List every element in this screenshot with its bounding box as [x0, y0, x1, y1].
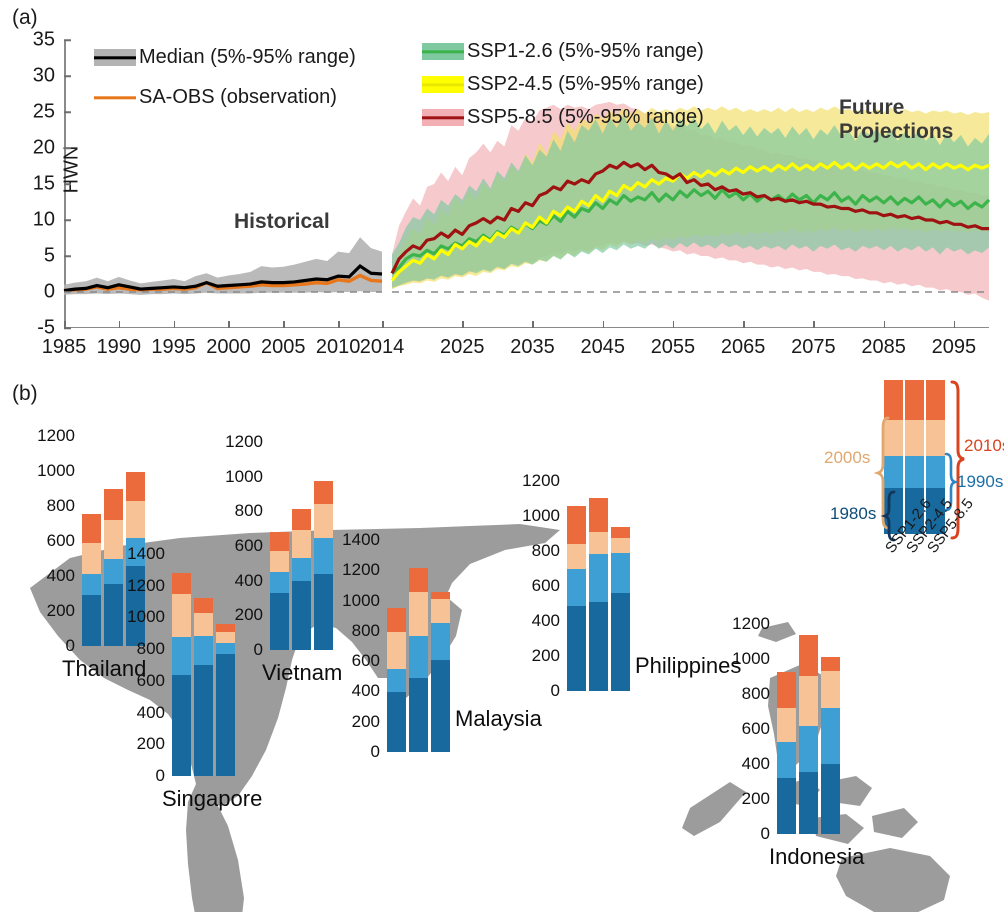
country-y-tick: 800 [47, 496, 75, 516]
bar-segment-1980s [194, 665, 213, 776]
bar-segment-1980s [799, 772, 818, 834]
bar-segment-2000s [777, 708, 796, 742]
country-y-tick: 1000 [522, 506, 560, 526]
inset-segment-1990s [884, 456, 903, 488]
bar-SSP1-2.6[interactable] [567, 506, 586, 691]
bar-segment-2000s [104, 520, 123, 559]
country-y-tick: 800 [352, 621, 380, 641]
stacked-bars [172, 573, 238, 776]
legend-line [422, 50, 464, 53]
bar-segment-2010s [314, 481, 333, 504]
bar-SSP2-4.5[interactable] [104, 489, 123, 646]
legend-line [94, 56, 136, 59]
x-tick-label: 2065 [721, 336, 766, 359]
bar-segment-1980s [777, 778, 796, 834]
country-chart-malaysia: 0200400600800100012001400Malaysia [383, 540, 473, 752]
bar-segment-1990s [589, 554, 608, 602]
bar-segment-2010s [589, 498, 608, 532]
x-tick-label: 2075 [791, 336, 836, 359]
country-y-tick: 0 [371, 742, 380, 762]
bar-SSP5-8.5[interactable] [611, 527, 630, 691]
bar-segment-1980s [611, 593, 630, 691]
bar-segment-2010s [387, 608, 406, 631]
inset-segment-2000s [926, 420, 945, 456]
bar-segment-2010s [292, 509, 311, 531]
country-y-tick: 600 [352, 651, 380, 671]
bar-segment-2010s [270, 532, 289, 551]
bar-segment-1990s [611, 553, 630, 593]
bar-segment-2000s [126, 501, 145, 539]
country-label: Philippines [635, 653, 741, 679]
bar-segment-1990s [216, 643, 235, 654]
bar-SSP2-4.5[interactable] [292, 509, 311, 650]
bar-segment-2000s [431, 599, 450, 623]
country-y-tick: 600 [532, 576, 560, 596]
y-tick-label: 25 [33, 101, 55, 124]
inset-segment-1990s [905, 456, 924, 488]
country-y-tick: 200 [137, 734, 165, 754]
country-y-tick: 600 [742, 719, 770, 739]
country-y-tick: 600 [137, 671, 165, 691]
x-tick-label: 2005 [261, 336, 306, 359]
x-tick-label: 2014 [360, 336, 405, 359]
x-tick-label: 2025 [440, 336, 485, 359]
bar-segment-1980s [589, 602, 608, 691]
y-tick-label: 30 [33, 65, 55, 88]
country-y-tick: 1200 [37, 426, 75, 446]
bar-SSP5-8.5[interactable] [216, 624, 235, 776]
legend-label: SA-OBS (observation) [139, 86, 337, 109]
country-label: Thailand [62, 656, 146, 682]
y-tick-label: 5 [44, 245, 55, 268]
bar-segment-2010s [82, 514, 101, 543]
legend-swatch [422, 43, 464, 60]
country-y-tick: 400 [137, 703, 165, 723]
legend-line [422, 83, 464, 86]
legend-item-0[interactable]: Median (5%-95% range) [94, 46, 356, 69]
bar-segment-2000s [387, 632, 406, 669]
bar-segment-1980s [431, 660, 450, 752]
y-tick-label: 20 [33, 137, 55, 160]
bar-segment-1980s [172, 675, 191, 776]
x-tick-label: 2035 [510, 336, 555, 359]
country-y-tick: 1400 [127, 544, 165, 564]
bar-SSP5-8.5[interactable] [431, 592, 450, 752]
bar-segment-2000s [821, 671, 840, 708]
country-y-tick: 800 [235, 501, 263, 521]
country-y-tick: 1400 [342, 530, 380, 550]
x-tick-label: 2000 [206, 336, 251, 359]
annotation-historical: Historical [234, 210, 330, 234]
y-tick-label: 0 [44, 281, 55, 304]
country-y-tick: 1000 [37, 461, 75, 481]
country-y-tick: 200 [235, 605, 263, 625]
country-y-tick: 1000 [732, 649, 770, 669]
x-tick-label: 2085 [861, 336, 906, 359]
country-y-tick: 1000 [127, 607, 165, 627]
country-y-tick: 200 [47, 601, 75, 621]
bar-segment-2010s [431, 592, 450, 599]
bar-segment-1990s [777, 742, 796, 778]
inset-segment-2000s [884, 420, 903, 456]
country-y-tick: 0 [551, 681, 560, 701]
legend-item-2[interactable]: SSP1-2.6 (5%-95% range) [422, 40, 704, 63]
bar-segment-1980s [270, 593, 289, 650]
bar-segment-1980s [216, 654, 235, 776]
panel-a-timeseries-chart: HWN -505101520253035 1985199019952000200… [0, 28, 1004, 378]
bar-SSP5-8.5[interactable] [821, 657, 840, 834]
country-y-tick: 1000 [342, 591, 380, 611]
country-y-tick: 800 [532, 541, 560, 561]
country-y-tick: 0 [254, 640, 263, 660]
bar-segment-1980s [387, 692, 406, 752]
x-tick-label: 2045 [580, 336, 625, 359]
country-y-tick: 1200 [732, 614, 770, 634]
country-y-tick: 400 [532, 611, 560, 631]
bar-segment-1990s [821, 708, 840, 764]
bar-SSP5-8.5[interactable] [314, 481, 333, 650]
bar-segment-2010s [821, 657, 840, 671]
bar-segment-2000s [567, 544, 586, 569]
bar-segment-2000s [314, 504, 333, 539]
country-y-tick: 200 [532, 646, 560, 666]
inset-segment-2010s [926, 380, 945, 420]
x-tick-label: 2095 [932, 336, 977, 359]
legend-label: SSP1-2.6 (5%-95% range) [467, 40, 704, 63]
country-y-tick: 0 [66, 636, 75, 656]
bar-segment-2000s [799, 676, 818, 727]
map-landmass-shape [872, 808, 918, 838]
country-y-tick: 400 [47, 566, 75, 586]
legend-item-1[interactable]: SA-OBS (observation) [94, 86, 337, 109]
country-label: Indonesia [769, 844, 864, 870]
stacked-bars [777, 635, 843, 834]
bar-SSP2-4.5[interactable] [589, 498, 608, 691]
bar-segment-2000s [270, 551, 289, 572]
bar-segment-2000s [172, 594, 191, 637]
country-y-tick: 400 [352, 681, 380, 701]
legend-swatch [94, 49, 136, 66]
bar-segment-1990s [799, 726, 818, 772]
legend-label: SSP5-8.5 (5%-95% range) [467, 106, 704, 129]
x-tick-label: 2010 [316, 336, 361, 359]
country-label: Malaysia [455, 706, 542, 732]
y-tick-label: 15 [33, 173, 55, 196]
stacked-bars [387, 568, 453, 752]
bar-segment-2010s [104, 489, 123, 520]
country-y-tick: 1000 [225, 467, 263, 487]
bar-segment-1990s [431, 623, 450, 660]
inset-segment-2010s [905, 380, 924, 420]
bar-segment-1980s [314, 574, 333, 650]
stacked-bars [567, 498, 633, 691]
country-chart-philippines: 020040060080010001200Philippines [563, 481, 653, 691]
legend-label: SSP2-4.5 (5%-95% range) [467, 73, 704, 96]
bar-segment-2010s [194, 598, 213, 613]
bar-SSP2-4.5[interactable] [194, 598, 213, 776]
bar-segment-2010s [777, 672, 796, 708]
country-y-tick: 800 [137, 639, 165, 659]
bar-segment-1980s [82, 595, 101, 646]
bar-SSP1-2.6[interactable] [387, 608, 406, 752]
legend-line [94, 96, 136, 99]
bar-segment-1990s [104, 559, 123, 584]
bar-segment-2010s [172, 573, 191, 594]
bar-segment-2000s [611, 538, 630, 553]
country-y-tick: 1200 [225, 432, 263, 452]
country-y-tick: 400 [742, 754, 770, 774]
x-tick-label: 1990 [97, 336, 142, 359]
bar-segment-2010s [567, 506, 586, 544]
bar-segment-2000s [409, 592, 428, 636]
bar-segment-1990s [409, 636, 428, 678]
bar-segment-2000s [194, 613, 213, 635]
bar-segment-2010s [611, 527, 630, 538]
bar-SSP2-4.5[interactable] [799, 635, 818, 834]
x-tick-label: 1985 [42, 336, 87, 359]
bar-segment-1990s [172, 637, 191, 675]
panel-b-map-chart: 020040060080010001200Thailand02004006008… [0, 378, 1004, 912]
bar-segment-2000s [589, 532, 608, 554]
inset-decade-label-2000s: 2000s [824, 448, 870, 468]
y-tick-label: 10 [33, 209, 55, 232]
bar-segment-1990s [194, 636, 213, 665]
bar-segment-1980s [821, 764, 840, 834]
bar-segment-2010s [216, 624, 235, 632]
inset-decade-label-2010s: 2010s [964, 436, 1004, 456]
legend-item-4[interactable]: SSP5-8.5 (5%-95% range) [422, 106, 704, 129]
bar-segment-1990s [270, 572, 289, 593]
country-y-tick: 400 [235, 571, 263, 591]
bar-segment-2010s [799, 635, 818, 675]
annotation-future-projections: Future Projections [839, 96, 989, 144]
inset-decade-label-1990s: 1990s [957, 472, 1003, 492]
bar-SSP1-2.6[interactable] [82, 514, 101, 646]
bar-segment-1990s [82, 574, 101, 595]
bar-segment-2000s [216, 632, 235, 643]
bar-segment-1990s [292, 558, 311, 581]
bar-segment-2000s [82, 543, 101, 575]
inset-segment-1990s [926, 456, 945, 488]
country-y-tick: 0 [156, 766, 165, 786]
inset-decade-label-1980s: 1980s [830, 504, 876, 524]
country-label: Singapore [162, 786, 262, 812]
bar-segment-1980s [409, 678, 428, 752]
country-y-tick: 0 [761, 824, 770, 844]
inset-bar-SSP1-2.6 [884, 380, 903, 534]
y-tick-label: 35 [33, 29, 55, 52]
bar-SSP2-4.5[interactable] [409, 568, 428, 752]
bar-segment-1990s [387, 669, 406, 692]
country-y-tick: 600 [47, 531, 75, 551]
legend-item-3[interactable]: SSP2-4.5 (5%-95% range) [422, 73, 704, 96]
bar-segment-2000s [292, 530, 311, 558]
country-y-tick: 200 [742, 789, 770, 809]
country-y-tick: 800 [742, 684, 770, 704]
country-chart-indonesia: 020040060080010001200Indonesia [773, 624, 863, 834]
stacked-bars [270, 481, 336, 650]
bar-segment-1990s [314, 538, 333, 574]
x-tick-label: 1995 [151, 336, 196, 359]
bar-SSP1-2.6[interactable] [172, 573, 191, 776]
country-y-tick: 1200 [342, 560, 380, 580]
legend-swatch [422, 109, 464, 126]
bar-SSP1-2.6[interactable] [270, 532, 289, 650]
country-y-tick: 1200 [522, 471, 560, 491]
inset-segment-2010s [884, 380, 903, 420]
country-y-tick: 200 [352, 712, 380, 732]
bar-segment-1980s [567, 606, 586, 691]
inset-segment-2000s [905, 420, 924, 456]
bar-SSP1-2.6[interactable] [777, 672, 796, 834]
country-y-tick: 600 [235, 536, 263, 556]
bar-segment-2010s [409, 568, 428, 592]
bar-segment-1980s [104, 584, 123, 646]
x-tick-label: 2055 [651, 336, 696, 359]
panel-a-label: (a) [12, 6, 38, 30]
bar-segment-1980s [292, 581, 311, 650]
legend-swatch [422, 76, 464, 93]
map-landmass-shape [682, 782, 746, 836]
legend-swatch [94, 89, 136, 106]
country-y-tick: 1200 [127, 576, 165, 596]
legend-line [422, 116, 464, 119]
bar-segment-2010s [126, 472, 145, 501]
bar-segment-1990s [567, 569, 586, 607]
country-label: Vietnam [262, 660, 342, 686]
legend-label: Median (5%-95% range) [139, 46, 356, 69]
inset-legend: 2010s1990s2000s1980s SSP1-2.6SSP2-4.5SSP… [856, 380, 1004, 580]
